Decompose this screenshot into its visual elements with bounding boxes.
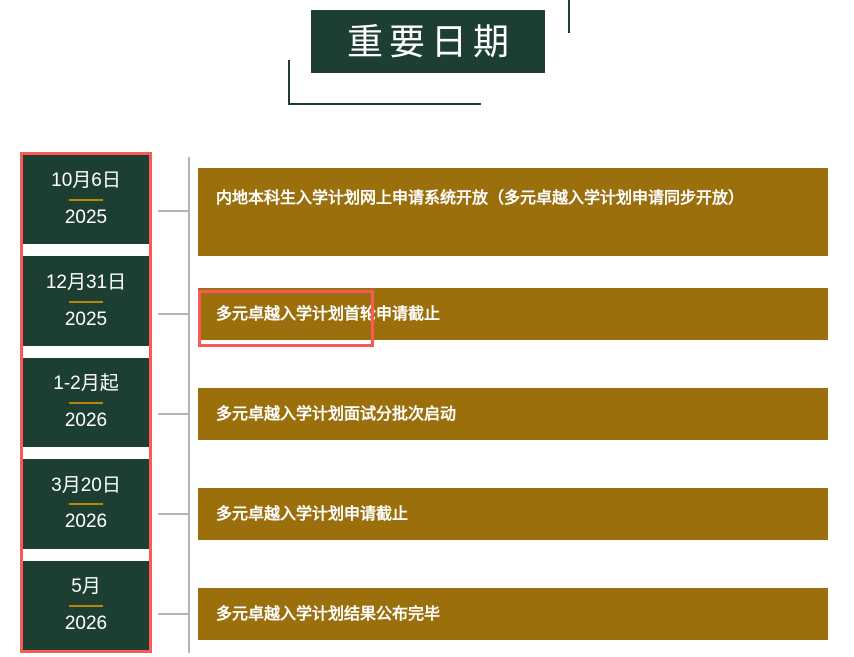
date-card: 1-2月起 2026 [23,358,149,447]
date-year: 2025 [65,309,107,331]
event-bar: 多元卓越入学计划申请截止 [198,488,828,540]
timeline-tick [158,413,188,415]
date-column-highlight: 10月6日 2025 12月31日 2025 1-2月起 2026 3月20日 … [20,152,152,653]
date-card: 12月31日 2025 [23,256,149,345]
date-divider [69,301,103,303]
title-accent-line-right [568,0,570,33]
title-accent-line-horizontal [288,103,481,105]
date-card: 10月6日 2025 [23,155,149,244]
date-year: 2026 [65,613,107,635]
date-day: 10月6日 [51,170,121,192]
date-year: 2025 [65,207,107,229]
date-day: 1-2月起 [53,373,118,395]
timeline-tick [158,613,188,615]
date-divider [69,402,103,404]
page-title-box: 重要日期 [311,10,545,73]
event-bar: 多元卓越入学计划首轮申请截止 [198,288,828,340]
date-year: 2026 [65,511,107,533]
date-divider [69,199,103,201]
infographic-canvas: 重要日期 10月6日 2025 12月31日 2025 1-2月起 2026 3… [0,0,854,657]
page-title: 重要日期 [341,24,515,60]
date-day: 12月31日 [46,272,126,294]
timeline-spine [188,157,190,653]
timeline-tick [158,313,188,315]
timeline-tick [158,513,188,515]
date-day: 3月20日 [51,475,121,497]
date-card: 5月 2026 [23,561,149,650]
event-bar: 多元卓越入学计划结果公布完毕 [198,588,828,640]
timeline-tick [158,210,188,212]
date-year: 2026 [65,410,107,432]
date-divider [69,605,103,607]
event-bar: 多元卓越入学计划面试分批次启动 [198,388,828,440]
date-card: 3月20日 2026 [23,459,149,548]
date-day: 5月 [71,576,101,598]
event-bar: 内地本科生入学计划网上申请系统开放（多元卓越入学计划申请同步开放） [198,168,828,256]
date-divider [69,503,103,505]
title-accent-line-vertical [288,60,290,105]
